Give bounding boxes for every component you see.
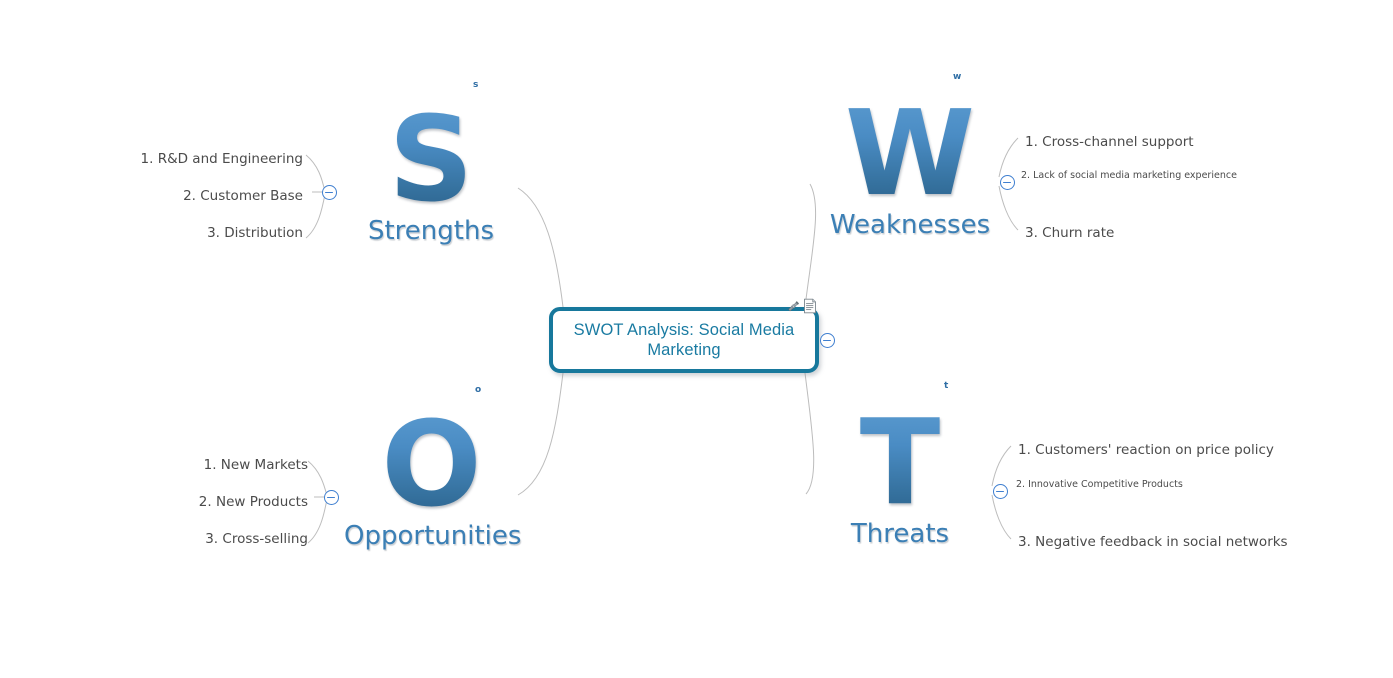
branch-letter-opportunities: O [344,405,519,525]
sub-item-strengths-3[interactable]: 3. Distribution [207,225,303,241]
subconnector-strengths-1 [306,155,325,192]
sub-item-opportunities-1[interactable]: 1. New Markets [204,457,308,473]
branch-tag-strengths: s [473,80,478,90]
branch-letter-strengths: S [360,100,502,220]
connector-center-threats [805,373,814,494]
mindmap-canvas: SWOT Analysis: Social Media Marketing [0,0,1393,678]
sub-item-weaknesses-3[interactable]: 3. Churn rate [1025,225,1114,241]
central-node-icons [786,298,817,319]
collapse-button-weaknesses[interactable] [1000,175,1015,190]
branch-opportunities[interactable]: O Opportunities [344,405,519,549]
subconnector-weaknesses-3 [999,186,1018,230]
note-icon[interactable] [803,298,817,319]
collapse-button-threats[interactable] [993,484,1008,499]
branch-letter-threats: T [840,403,960,523]
sub-item-threats-3[interactable]: 3. Negative feedback in social networks [1018,534,1288,550]
collapse-button-strengths[interactable] [322,185,337,200]
sub-item-weaknesses-2[interactable]: 2. Lack of social media marketing experi… [1021,170,1237,181]
branch-strengths[interactable]: S Strengths [360,100,502,244]
subconnector-opportunities-1 [308,461,327,496]
branch-weaknesses[interactable]: W Weaknesses [826,94,994,238]
subconnector-threats-1 [992,446,1011,486]
connector-center-strengths [518,188,563,307]
connector-center-opportunities [518,373,563,495]
branch-threats[interactable]: T Threats [840,403,960,547]
collapse-button-central[interactable] [820,333,835,348]
subconnector-threats-3 [992,495,1011,539]
sub-item-strengths-1[interactable]: 1. R&D and Engineering [141,151,303,167]
branch-tag-weaknesses: w [953,72,961,82]
central-node[interactable]: SWOT Analysis: Social Media Marketing [549,307,819,373]
collapse-button-opportunities[interactable] [324,490,339,505]
branch-tag-threats: t [944,381,948,391]
sub-item-opportunities-3[interactable]: 3. Cross-selling [205,531,308,547]
subconnector-weaknesses-1 [999,138,1018,177]
connector-center-weaknesses [805,184,816,307]
sub-item-threats-1[interactable]: 1. Customers' reaction on price policy [1018,442,1274,458]
sub-item-weaknesses-1[interactable]: 1. Cross-channel support [1025,134,1194,150]
branch-letter-weaknesses: W [826,94,994,214]
hyperlink-icon[interactable] [786,299,801,319]
sub-item-threats-2[interactable]: 2. Innovative Competitive Products [1016,479,1183,490]
branch-tag-opportunities: o [475,385,481,395]
sub-item-strengths-2[interactable]: 2. Customer Base [183,188,303,204]
sub-item-opportunities-2[interactable]: 2. New Products [199,494,308,510]
central-node-title: SWOT Analysis: Social Media Marketing [553,320,815,360]
subconnector-strengths-3 [306,194,325,238]
subconnector-opportunities-3 [308,499,327,543]
